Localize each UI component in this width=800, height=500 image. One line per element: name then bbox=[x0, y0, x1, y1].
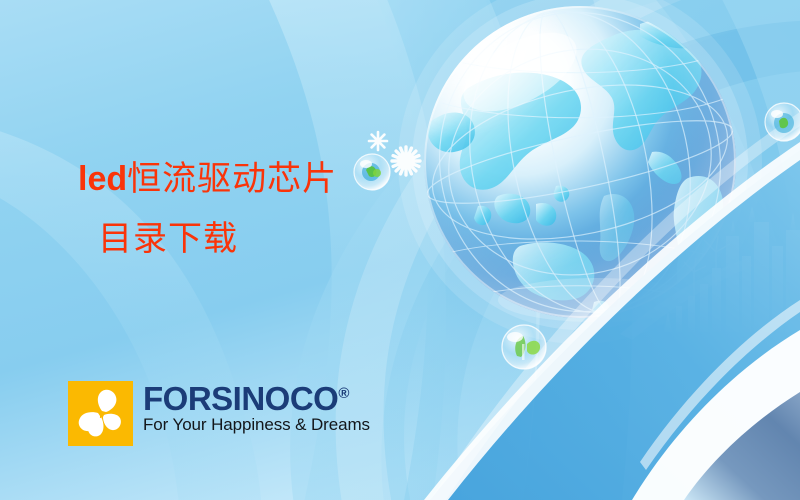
bubble-leaf bbox=[502, 325, 546, 369]
logo-wordmark: FORSINOCO® bbox=[143, 382, 370, 416]
forsinoco-pinwheel-mark bbox=[68, 381, 133, 446]
globe-graphic bbox=[384, 0, 748, 338]
logo-text-block: FORSINOCO® For Your Happiness & Dreams bbox=[143, 381, 370, 435]
logo-tagline: For Your Happiness & Dreams bbox=[143, 415, 370, 435]
globe-parallels bbox=[418, 25, 741, 299]
city-skyline-silhouette bbox=[620, 206, 800, 340]
headline-line-1: led恒流驱动芯片 bbox=[78, 162, 408, 197]
headline-latin: led bbox=[78, 160, 127, 198]
pinwheel-icon bbox=[68, 381, 133, 446]
headline-cjk: 恒流驱动芯片 bbox=[127, 161, 337, 198]
headline-line-2: 目录下载 bbox=[78, 223, 408, 257]
globe-landmasses bbox=[428, 19, 723, 317]
registered-mark-icon: ® bbox=[338, 385, 349, 402]
snowflake-small bbox=[369, 132, 387, 150]
bubble-group bbox=[354, 103, 800, 369]
globe-meridians bbox=[412, 0, 748, 338]
promo-banner: led恒流驱动芯片 目录下载 FORSINOCO® For Your Happi… bbox=[0, 0, 800, 500]
company-logo[interactable]: FORSINOCO® For Your Happiness & Dreams bbox=[68, 381, 370, 446]
bubble-globe-right bbox=[765, 103, 800, 141]
headline-block: led恒流驱动芯片 目录下载 bbox=[78, 162, 408, 257]
logo-wordmark-text: FORSINOCO bbox=[143, 380, 338, 417]
bottom-ribbon-group bbox=[424, 112, 800, 500]
